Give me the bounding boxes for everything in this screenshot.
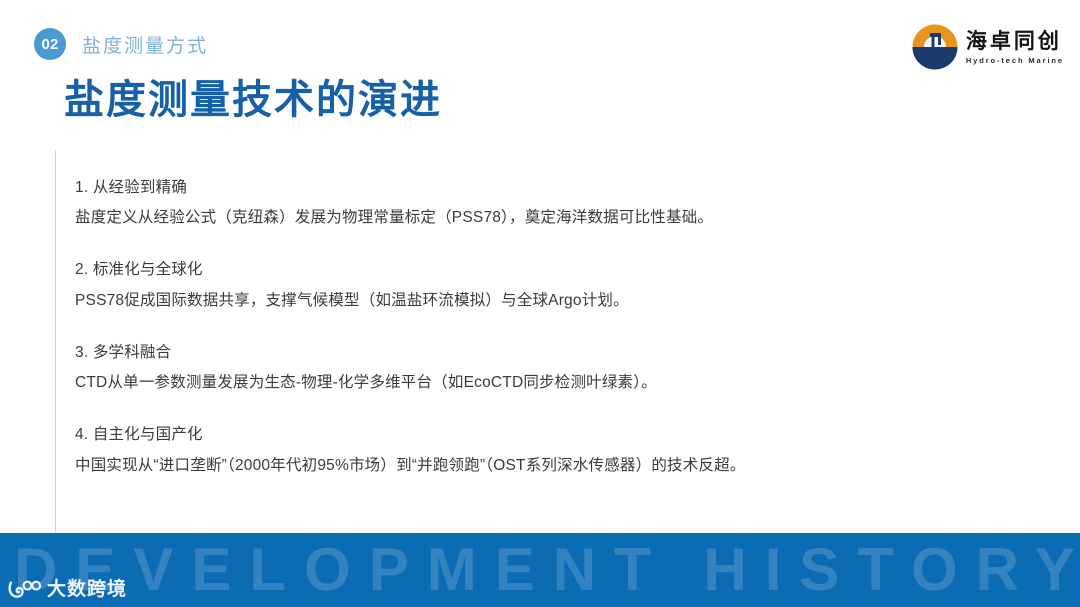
content-item: 4. 自主化与国产化 中国实现从“进口垄断”（2000年代初95%市场）到“并跑… [75,420,1030,480]
hydro-tech-marine-logo-icon [910,22,960,72]
content-panel: 1. 从经验到精确 盐度定义从经验公式（克纽森）发展为物理常量标定（PSS78）… [55,150,1030,533]
content-item-heading: 3. 多学科融合 [75,338,1030,368]
content-item-heading: 1. 从经验到精确 [75,173,1030,203]
page-title: 盐度测量技术的演进 [64,77,442,123]
dashujingjing-logo-icon [8,577,42,601]
footer-watermark: 大数跨境 [8,577,127,601]
brand-logo: 海卓同创 Hydro-tech Marine [910,22,1064,72]
brand-wordmark: 海卓同创 Hydro-tech Marine [966,29,1064,65]
footer-watermark-label: 大数跨境 [47,580,127,599]
section-kicker: 02 盐度测量方式 [34,28,208,60]
section-number-badge: 02 [34,28,66,60]
brand-name-cn: 海卓同创 [966,31,1064,53]
content-item-body: 盐度定义从经验公式（克纽森）发展为物理常量标定（PSS78），奠定海洋数据可比性… [75,203,1030,233]
footer-banner: DEVELOPMENT HISTORY 大数跨境 [0,533,1080,607]
content-item-heading: 4. 自主化与国产化 [75,420,1030,450]
content-item-body: CTD从单一参数测量发展为生态-物理-化学多维平台（如EcoCTD同步检测叶绿素… [75,368,1030,398]
footer-ghost-text: DEVELOPMENT HISTORY [14,540,1080,600]
content-list: 1. 从经验到精确 盐度定义从经验公式（克纽森）发展为物理常量标定（PSS78）… [56,150,1030,481]
content-item: 3. 多学科融合 CTD从单一参数测量发展为生态-物理-化学多维平台（如EcoC… [75,338,1030,398]
content-item-heading: 2. 标准化与全球化 [75,255,1030,285]
section-kicker-label: 盐度测量方式 [82,31,208,58]
brand-name-en: Hydro-tech Marine [966,56,1064,65]
content-item: 1. 从经验到精确 盐度定义从经验公式（克纽森）发展为物理常量标定（PSS78）… [75,173,1030,233]
content-item-body: 中国实现从“进口垄断”（2000年代初95%市场）到“并跑领跑”（OST系列深水… [75,451,1030,481]
content-item: 2. 标准化与全球化 PSS78促成国际数据共享，支撑气候模型（如温盐环流模拟）… [75,255,1030,315]
slide-root: 02 盐度测量方式 盐度测量技术的演进 海卓同创 Hydro-tech Mari… [0,0,1080,607]
content-item-body: PSS78促成国际数据共享，支撑气候模型（如温盐环流模拟）与全球Argo计划。 [75,286,1030,316]
